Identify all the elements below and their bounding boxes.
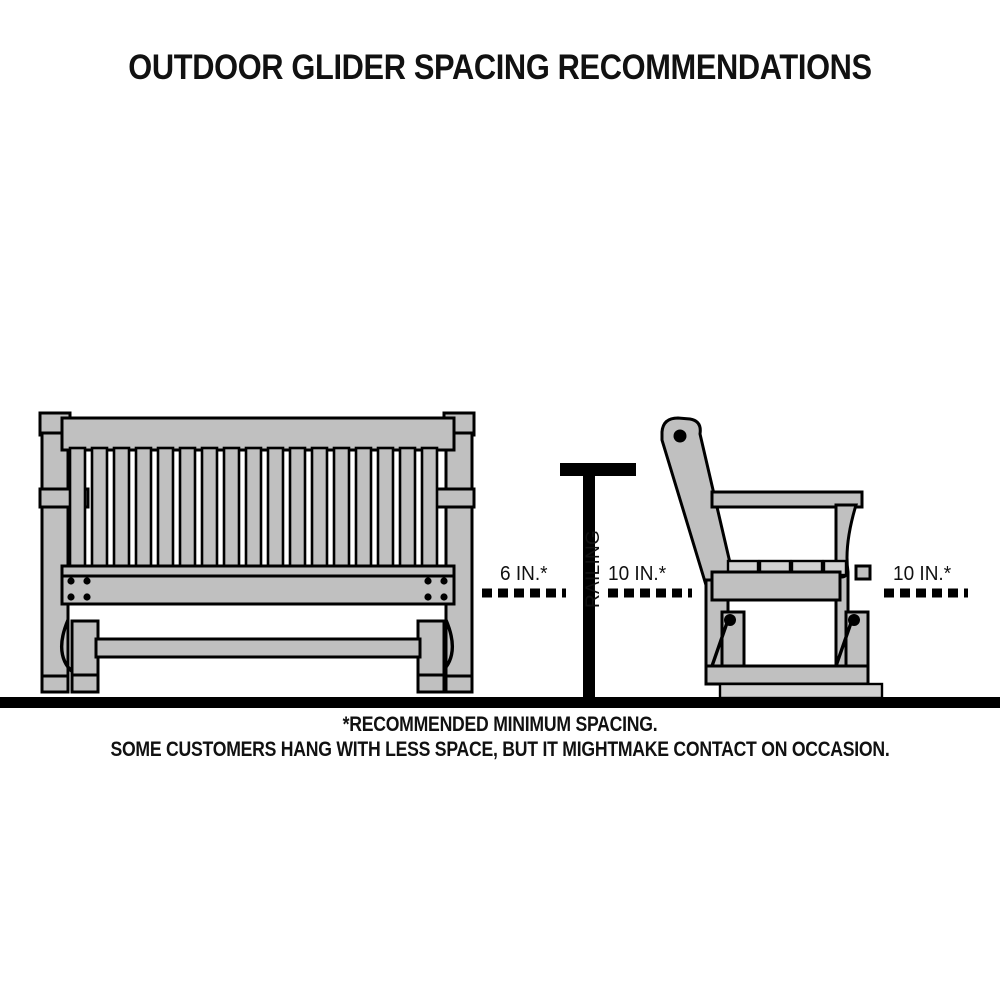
bench-seat-apron xyxy=(62,576,454,604)
ground-line xyxy=(0,697,1000,708)
glider-bench-front-view xyxy=(40,413,474,692)
bench-back-slats xyxy=(70,448,437,568)
footnote-line-1: *RECOMMENDED MINIMUM SPACING. xyxy=(80,712,920,737)
glider-base-rail xyxy=(706,666,868,684)
bench-left-glider-leg xyxy=(72,621,98,692)
glider-front-post-stub xyxy=(856,566,870,579)
glider-chair-side-view xyxy=(662,418,882,698)
bench-right-glider-leg xyxy=(418,621,444,692)
dimension-label-10in-right: 10 IN.* xyxy=(893,563,951,586)
bench-left-post xyxy=(40,413,70,692)
bench-right-post xyxy=(444,413,474,692)
diagram-canvas: OUTDOOR GLIDER SPACING RECOMMENDATIONS .… xyxy=(0,0,1000,1000)
bench-bottom-stretcher xyxy=(96,639,420,657)
footnotes: *RECOMMENDED MINIMUM SPACING. SOME CUSTO… xyxy=(0,712,1000,762)
railing-label: RAILING xyxy=(583,530,605,608)
footnote-line-2: SOME CUSTOMERS HANG WITH LESS SPACE, BUT… xyxy=(80,737,920,762)
dimension-label-6in: 6 IN.* xyxy=(500,563,548,586)
spacing-diagram-illustration: .wood { fill:#c0c0c0; stroke:#000000; st… xyxy=(0,0,1000,1000)
bench-top-rail xyxy=(62,418,454,450)
dimension-label-10in-railing: 10 IN.* xyxy=(608,563,666,586)
glider-seat-rail xyxy=(712,572,840,600)
glider-base-skid xyxy=(720,684,882,698)
